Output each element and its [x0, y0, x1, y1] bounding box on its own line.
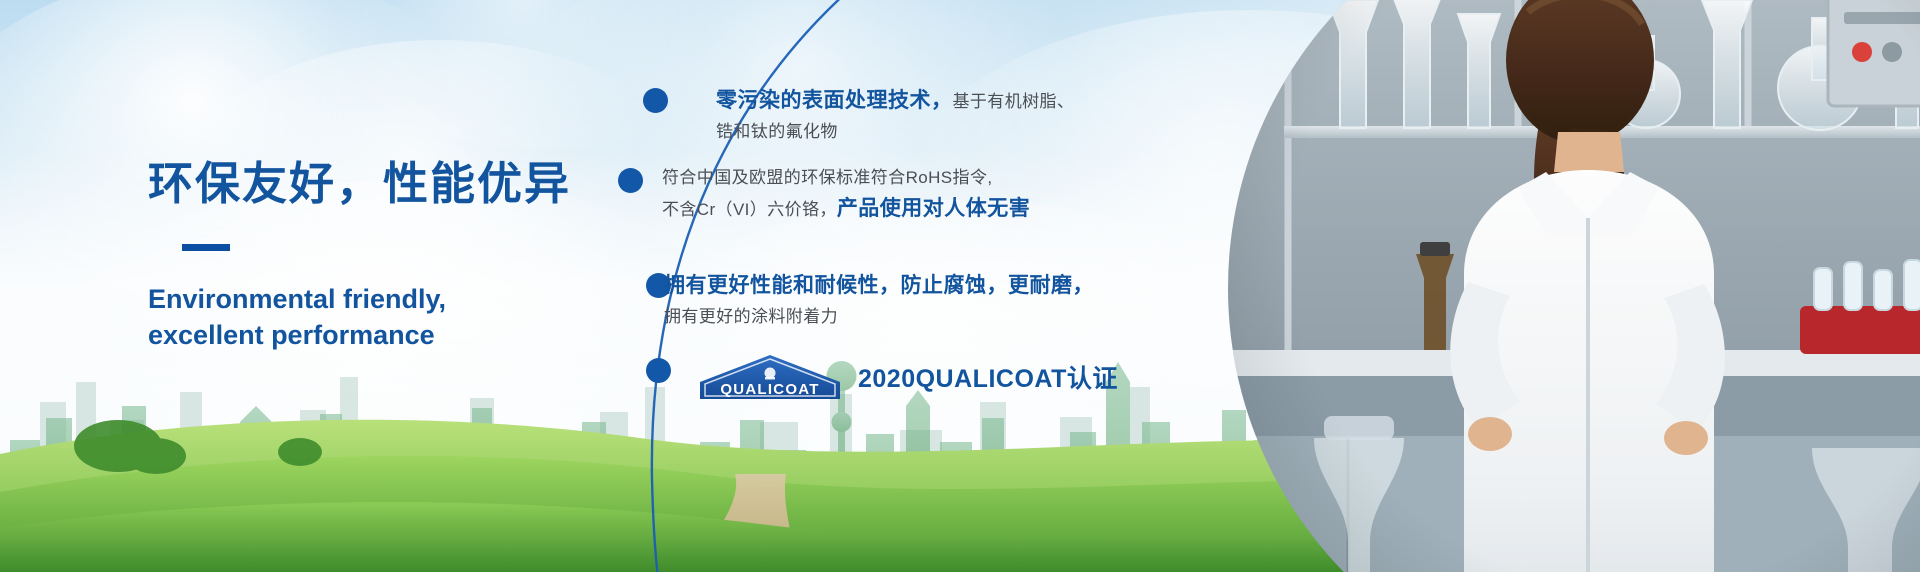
- feature-item-1: 零污染的表面处理技术，基于有机树脂、 锆和钛的氟化物: [716, 84, 1074, 146]
- feature-line: 拥有更好的涂料附着力: [664, 303, 1094, 331]
- headline-block: 环保友好，性能优异 Environmental friendly, excell…: [148, 158, 618, 354]
- qualicoat-logo-icon: QUALICOAT: [696, 352, 844, 402]
- feature-text-normal: 锆和钛的氟化物: [716, 122, 838, 141]
- svg-text:QUALICOAT: QUALICOAT: [720, 381, 819, 398]
- feature-text-strong: 拥有更好性能和耐候性，防止腐蚀，更耐磨，: [664, 274, 1094, 297]
- feature-line: 拥有更好性能和耐候性，防止腐蚀，更耐磨，: [664, 269, 1094, 303]
- feature-list: 零污染的表面处理技术，基于有机树脂、 锆和钛的氟化物 符合中国及欧盟的环保标准符…: [600, 0, 1220, 572]
- bullet-dot-icon: [646, 358, 671, 383]
- feature-line: 不含Cr（VI）六价铬，产品使用对人体无害: [662, 192, 1030, 226]
- feature-text-normal: 不含Cr（VI）六价铬，: [662, 200, 837, 219]
- feature-text-strong: 零污染的表面处理技术，: [716, 89, 953, 112]
- lab-photo: [1228, 0, 1920, 572]
- page-title-en: Environmental friendly, excellent perfor…: [148, 281, 618, 354]
- hero-photo-circle: [1228, 0, 1920, 572]
- bullet-dot-icon: [643, 88, 668, 113]
- title-divider: [182, 244, 230, 251]
- feature-line: 零污染的表面处理技术，基于有机树脂、: [716, 84, 1074, 118]
- feature-line: 符合中国及欧盟的环保标准符合RoHS指令,: [662, 164, 1030, 192]
- feature-text-normal: 拥有更好的涂料附着力: [664, 307, 838, 326]
- page-title-en-line2: excellent performance: [148, 317, 618, 353]
- feature-item-2: 符合中国及欧盟的环保标准符合RoHS指令, 不含Cr（VI）六价铬，产品使用对人…: [662, 164, 1030, 226]
- feature-item-4: QUALICOAT 2020QUALICOAT认证: [696, 352, 1118, 402]
- bullet-dot-icon: [618, 168, 643, 193]
- feature-line: 锆和钛的氟化物: [716, 118, 1074, 146]
- feature-text-normal: 符合中国及欧盟的环保标准符合RoHS指令,: [662, 168, 992, 187]
- hero-photo-container: [1100, 0, 1920, 572]
- page-title-cn: 环保友好，性能优异: [148, 158, 618, 210]
- feature-text-normal: 基于有机树脂、: [953, 92, 1075, 111]
- page-title-en-line1: Environmental friendly,: [148, 281, 618, 317]
- qualicoat-certification-label: 2020QUALICOAT认证: [858, 359, 1118, 395]
- feature-item-3: 拥有更好性能和耐候性，防止腐蚀，更耐磨， 拥有更好的涂料附着力: [664, 269, 1094, 331]
- feature-text-strong: 产品使用对人体无害: [837, 197, 1031, 220]
- promo-banner: 环保友好，性能优异 Environmental friendly, excell…: [0, 0, 1920, 572]
